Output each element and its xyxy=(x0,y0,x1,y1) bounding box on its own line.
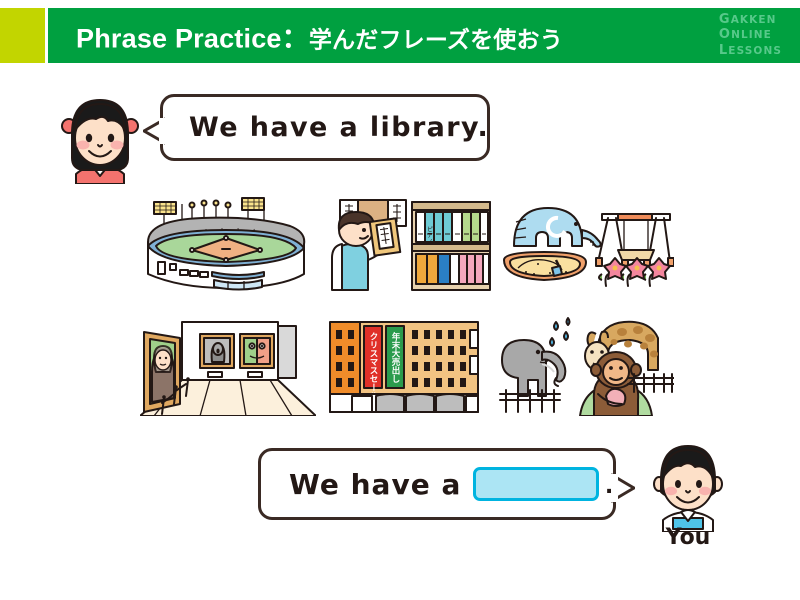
picture-museum[interactable] xyxy=(140,308,316,416)
picture-grid: ピアノ xyxy=(140,186,688,422)
logo-line-online: ONLINE xyxy=(719,28,782,44)
header-green-bar: Phrase Practice：学んだフレーズを使おう GAKKEN ONLIN… xyxy=(48,8,800,63)
practice-speaker-label: You xyxy=(645,525,731,550)
banner-red-text: クリスマスセール xyxy=(368,331,378,400)
page-title: Phrase Practice：学んだフレーズを使おう xyxy=(76,16,563,55)
speech-bubble-tail-left xyxy=(143,117,165,145)
page-title-japanese: 学んだフレーズを使おう xyxy=(309,26,563,52)
example-speech-bubble: We have a library. xyxy=(160,94,490,161)
avatar-girl xyxy=(52,88,148,184)
picture-library[interactable]: ピアノ xyxy=(316,186,492,294)
header-accent-block xyxy=(0,8,45,63)
avatar-boy xyxy=(645,436,731,532)
practice-speech-bubble: We have a . xyxy=(258,448,616,520)
page-title-english: Phrase Practice xyxy=(76,23,282,53)
picture-park[interactable] xyxy=(498,186,674,294)
gakken-online-lessons-logo: GAKKEN ONLINE LESSONS xyxy=(719,12,782,60)
answer-blank-input[interactable] xyxy=(473,467,599,501)
banner-green-text: 年末大売出し xyxy=(390,331,401,383)
picture-stadium[interactable] xyxy=(140,186,316,294)
page-title-separator: ： xyxy=(282,23,309,53)
logo-line-gakken: GAKKEN xyxy=(719,12,782,28)
svg-text:ピアノ: ピアノ xyxy=(426,226,433,244)
picture-zoo[interactable] xyxy=(498,308,674,416)
picture-department-store[interactable]: クリスマスセール 年末大売出し xyxy=(316,308,492,416)
logo-line-lessons: LESSONS xyxy=(719,43,782,59)
speech-bubble-tail-right xyxy=(611,473,635,503)
example-sentence: We have a library. xyxy=(189,112,489,143)
practice-sentence-before: We have a xyxy=(289,468,461,501)
header-bar: Phrase Practice：学んだフレーズを使おう GAKKEN ONLIN… xyxy=(0,8,800,63)
